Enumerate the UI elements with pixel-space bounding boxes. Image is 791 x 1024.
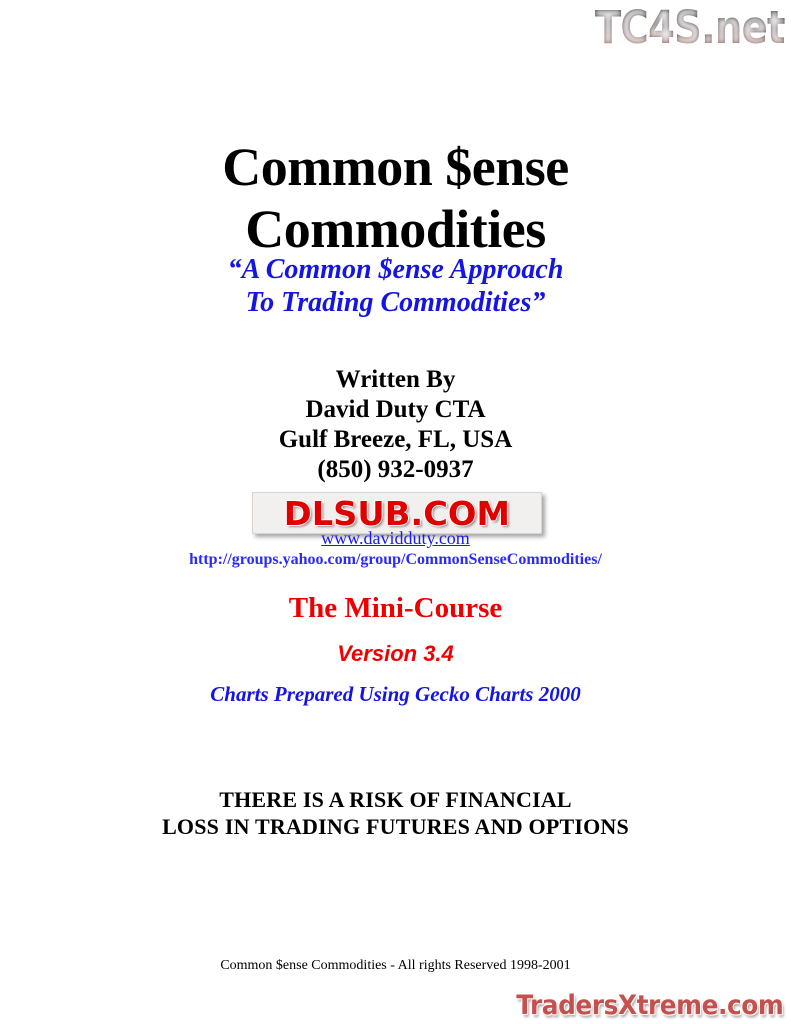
title-line-1: Common $ense [0, 136, 791, 198]
group-link[interactable]: http://groups.yahoo.com/group/CommonSens… [0, 550, 791, 570]
website-link[interactable]: www.davidduty.com [321, 528, 470, 548]
watermark-dlsub-label: DLSUB.COM [284, 497, 510, 530]
document-page: TC4S.net Common $ense Commodities “A Com… [0, 0, 791, 1024]
footer-copyright: Common $ense Commodities - All rights Re… [0, 957, 791, 975]
subtitle-line-1: “A Common $ense Approach [0, 253, 791, 286]
charts-credit: Charts Prepared Using Gecko Charts 2000 [0, 681, 791, 707]
risk-disclaimer: THERE IS A RISK OF FINANCIAL LOSS IN TRA… [0, 786, 791, 840]
watermark-tradersxtreme: TradersXtreme.com [516, 990, 783, 1022]
course-version: Version 3.4 [0, 641, 791, 667]
risk-line-2: LOSS IN TRADING FUTURES AND OPTIONS [0, 813, 791, 840]
author-location: Gulf Breeze, FL, USA [0, 425, 791, 455]
risk-line-1: THERE IS A RISK OF FINANCIAL [0, 786, 791, 813]
page-title: Common $ense Commodities [0, 136, 791, 260]
course-name: The Mini-Course [0, 591, 791, 625]
title-line-2: Commodities [0, 198, 791, 260]
subtitle-line-2: To Trading Commodities” [0, 286, 791, 319]
author-written-by: Written By [0, 365, 791, 395]
watermark-tc4s: TC4S.net [595, 2, 785, 54]
author-block: Written By David Duty CTA Gulf Breeze, F… [0, 365, 791, 485]
website-link-row: www.davidduty.com [0, 527, 791, 549]
author-name: David Duty CTA [0, 395, 791, 425]
page-subtitle: “A Common $ense Approach To Trading Comm… [0, 253, 791, 319]
author-phone: (850) 932-0937 [0, 455, 791, 485]
